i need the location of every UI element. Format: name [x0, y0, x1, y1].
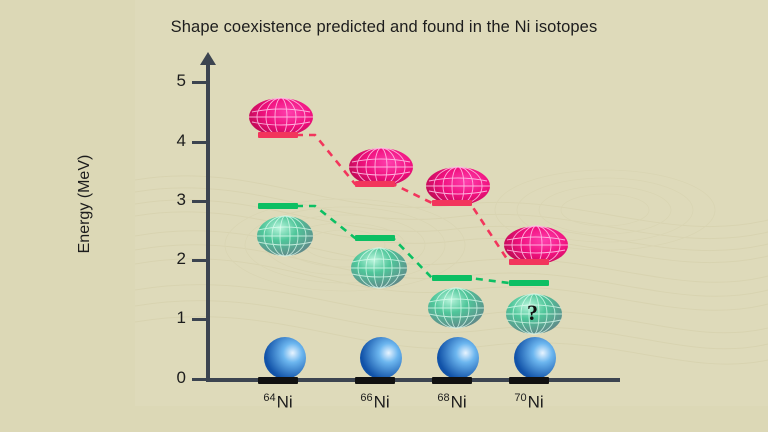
isotope-element-66: Ni — [374, 393, 390, 412]
spherical-shape-64ni — [262, 336, 308, 382]
y-axis-title: Energy (MeV) — [76, 109, 94, 299]
y-tick-0 — [192, 378, 206, 381]
isotope-mass-68: 68 — [437, 392, 449, 404]
figure-canvas: Shape coexistence predicted and found in… — [0, 0, 768, 432]
oblate-level-66ni — [355, 235, 395, 241]
x-label-64ni: 64Ni — [233, 392, 323, 413]
y-tick-label-3: 3 — [152, 190, 186, 210]
y-tick-label-0: 0 — [152, 368, 186, 388]
isotope-mass-64: 64 — [263, 392, 275, 404]
unknown-marker-70ni: ? — [527, 300, 538, 326]
oblate-shape-64ni — [256, 214, 314, 258]
spherical-shape-66ni — [358, 336, 404, 382]
y-tick-3 — [192, 200, 206, 203]
y-axis-line — [206, 62, 210, 382]
oblate-level-68ni — [432, 275, 472, 281]
oblate-level-64ni — [258, 203, 298, 209]
y-tick-label-5: 5 — [152, 71, 186, 91]
oblate-shape-66ni — [350, 246, 408, 290]
y-tick-label-1: 1 — [152, 308, 186, 328]
isotope-mass-66: 66 — [360, 392, 372, 404]
y-tick-1 — [192, 318, 206, 321]
isotope-element-70: Ni — [528, 393, 544, 412]
y-tick-label-2: 2 — [152, 249, 186, 269]
y-tick-2 — [192, 259, 206, 262]
y-tick-5 — [192, 81, 206, 84]
prolate-level-66ni — [355, 181, 395, 187]
prolate-level-64ni — [258, 132, 298, 138]
ground-level-68ni — [432, 377, 472, 384]
spherical-shape-68ni — [435, 336, 481, 382]
ground-level-66ni — [355, 377, 395, 384]
x-label-70ni: 70Ni — [484, 392, 574, 413]
oblate-level-70ni — [509, 280, 549, 286]
ground-level-64ni — [258, 377, 298, 384]
prolate-level-70ni — [509, 259, 549, 265]
page-title: Shape coexistence predicted and found in… — [0, 18, 768, 37]
isotope-mass-70: 70 — [514, 392, 526, 404]
y-tick-4 — [192, 141, 206, 144]
prolate-level-68ni — [432, 200, 472, 206]
isotope-element-64: Ni — [277, 393, 293, 412]
y-axis-arrow-icon — [200, 52, 216, 65]
y-tick-label-4: 4 — [152, 131, 186, 151]
spherical-shape-70ni — [512, 336, 558, 382]
ground-level-70ni — [509, 377, 549, 384]
oblate-shape-68ni — [427, 286, 485, 330]
isotope-element-68: Ni — [451, 393, 467, 412]
